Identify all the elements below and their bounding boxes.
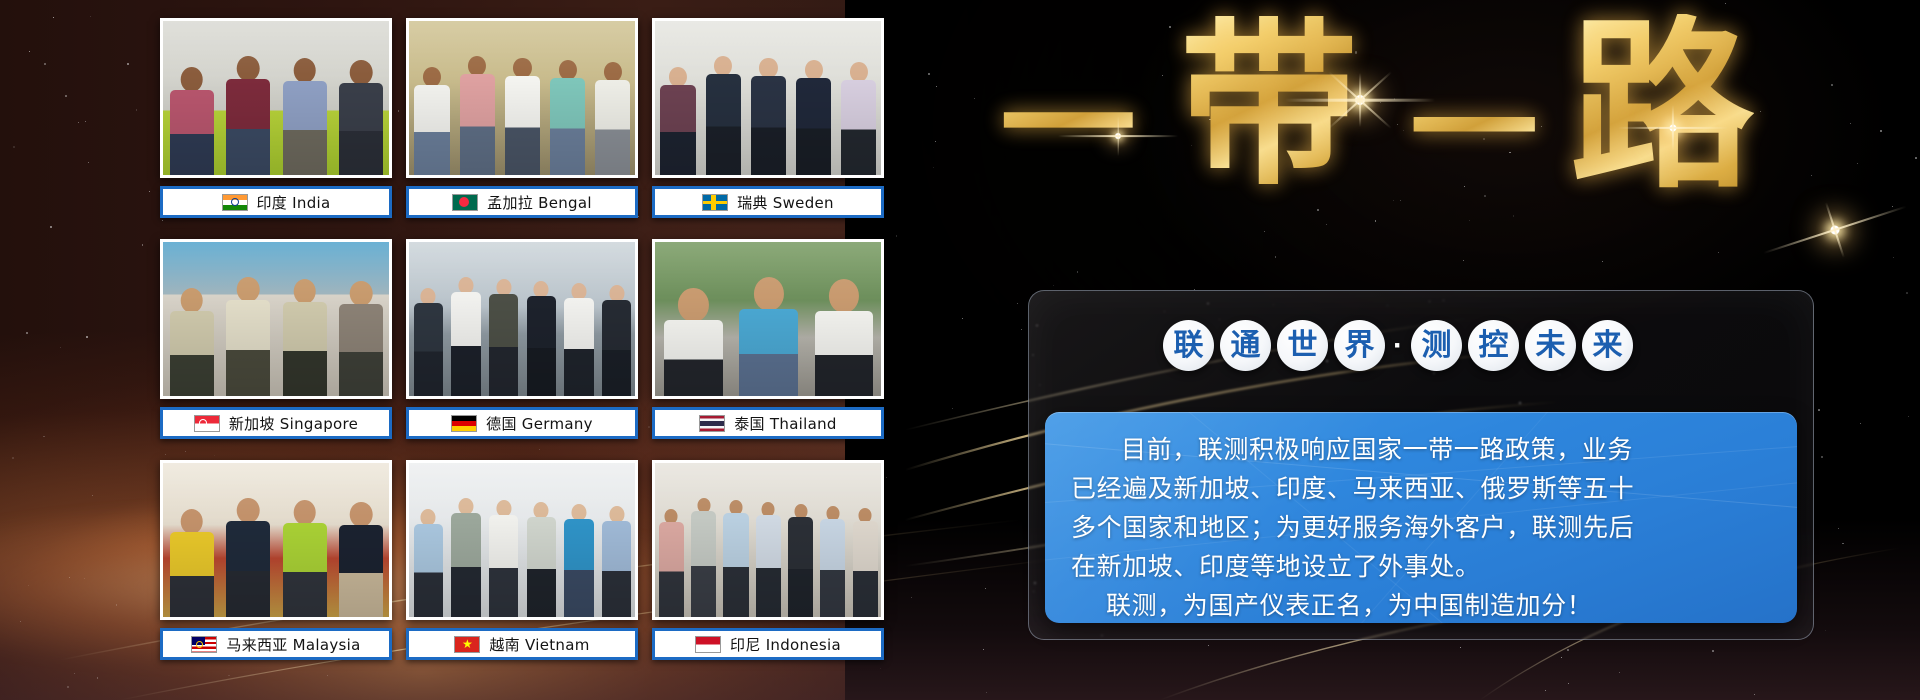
country-caption-label: 泰国 Thailand [734,413,837,434]
singapore-flag [194,415,220,432]
photo-content [655,463,881,617]
gallery-cell: ★越南 Vietnam [406,460,638,675]
description-line-2: 已经遍及新加坡、印度、马来西亚、俄罗斯等五十 [1071,469,1771,508]
slogan-char-8: 来 [1582,320,1633,371]
country-caption-label: 越南 Vietnam [489,634,589,655]
country-photo-grid: 印度 India孟加拉 Bengal瑞典 Sweden新加坡 Singapore… [160,18,920,683]
country-caption: 孟加拉 Bengal [406,186,638,218]
photo-content [655,21,881,175]
slogan-char-5: 测 [1411,320,1462,371]
group-photo-sweden [652,18,884,178]
country-caption: 印度 India [160,186,392,218]
description-line-4: 在新加坡、印度等地设立了外事处。 [1071,547,1771,586]
gallery-cell: 新加坡 Singapore [160,239,392,454]
gallery-cell: 印度 India [160,18,392,233]
country-caption-label: 新加坡 Singapore [229,413,358,434]
photo-content [163,242,389,396]
calligraphy-char-3: 一 [1410,66,1538,194]
description-line-1: 目前，联测积极响应国家一带一路政策，业务 [1071,430,1771,469]
photo-grading [655,242,881,396]
gallery-cell: 马来西亚 Malaysia [160,460,392,675]
country-caption-label: 印度 India [257,192,331,213]
description-box: 目前，联测积极响应国家一带一路政策，业务 已经遍及新加坡、印度、马来西亚、俄罗斯… [1045,412,1797,623]
indonesia-flag [695,636,721,653]
group-photo-vietnam [406,460,638,620]
photo-content [409,242,635,396]
country-caption: ★越南 Vietnam [406,628,638,660]
gallery-cell: 孟加拉 Bengal [406,18,638,233]
calligraphy-char-1: 一 [1000,58,1136,194]
bangladesh-flag [452,194,478,211]
description-line-5: 联测，为国产仪表正名，为中国制造加分！ [1071,586,1771,623]
photo-grading [409,242,635,396]
slogan-char-6: 控 [1468,320,1519,371]
malaysia-flag [191,636,217,653]
group-photo-indonesia [652,460,884,620]
photo-content [655,242,881,396]
group-photo-india [160,18,392,178]
country-caption: 马来西亚 Malaysia [160,628,392,660]
country-caption-label: 孟加拉 Bengal [487,192,592,213]
photo-content [163,463,389,617]
calligraphy-char-4: 路 [1570,14,1754,198]
photo-grading [409,463,635,617]
gallery-cell: 印尼 Indonesia [652,460,884,675]
group-photo-thailand [652,239,884,399]
gallery-cell: 泰国 Thailand [652,239,884,454]
slogan-separator: · [1391,331,1405,361]
group-photo-germany [406,239,638,399]
country-caption: 瑞典 Sweden [652,186,884,218]
description-line-3: 多个国家和地区；为更好服务海外客户，联测先后 [1071,508,1771,547]
description-paragraph: 目前，联测积极响应国家一带一路政策，业务 已经遍及新加坡、印度、马来西亚、俄罗斯… [1071,430,1771,623]
country-caption: 德国 Germany [406,407,638,439]
india-flag [222,194,248,211]
photo-grading [409,21,635,175]
photo-grading [655,463,881,617]
photo-grading [163,463,389,617]
vietnam-flag: ★ [454,636,480,653]
country-caption: 新加坡 Singapore [160,407,392,439]
thailand-flag [699,415,725,432]
slogan-char-2: 通 [1220,320,1271,371]
photo-grading [163,242,389,396]
slogan-char-4: 界 [1334,320,1385,371]
calligraphy-char-2: 带 [1180,16,1358,194]
gallery-cell: 德国 Germany [406,239,638,454]
sweden-flag [702,194,728,211]
slogan-char-1: 联 [1163,320,1214,371]
headline-calligraphy: 一 带 一 路 [1010,8,1890,233]
photo-grading [163,21,389,175]
germany-flag [451,415,477,432]
slogan-char-7: 未 [1525,320,1576,371]
gallery-cell: 瑞典 Sweden [652,18,884,233]
country-caption-label: 瑞典 Sweden [737,192,834,213]
vietnam-star-icon: ★ [462,638,473,650]
photo-content [409,21,635,175]
banner-stage: 印度 India孟加拉 Bengal瑞典 Sweden新加坡 Singapore… [0,0,1920,700]
photo-grading [655,21,881,175]
country-caption-label: 马来西亚 Malaysia [226,634,360,655]
country-caption: 印尼 Indonesia [652,628,884,660]
photo-content [163,21,389,175]
country-caption: 泰国 Thailand [652,407,884,439]
photo-content [409,463,635,617]
group-photo-bengal [406,18,638,178]
slogan-row: 联 通 世 界 · 测 控 未 来 [1163,320,1633,371]
group-photo-malaysia [160,460,392,620]
country-caption-label: 印尼 Indonesia [730,634,841,655]
group-photo-singapore [160,239,392,399]
slogan-char-3: 世 [1277,320,1328,371]
country-caption-label: 德国 Germany [486,413,593,434]
